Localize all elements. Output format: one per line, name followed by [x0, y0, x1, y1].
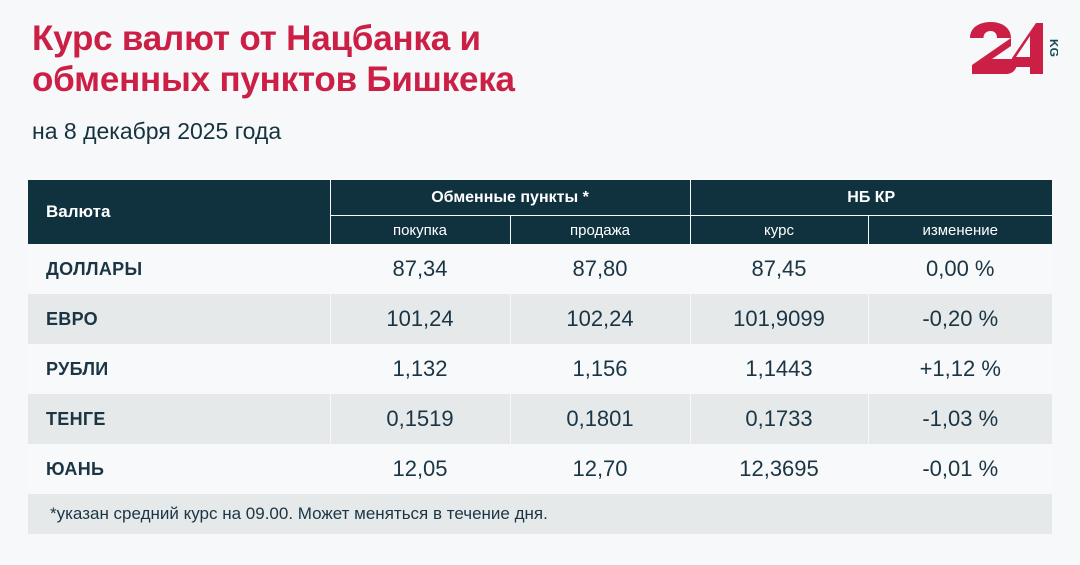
column-header-sell: продажа [510, 216, 690, 245]
cell-currency: ЕВРО [28, 294, 330, 344]
cell-buy: 0,1519 [330, 394, 510, 444]
page-title-line-1: Курс валют от Нацбанка и [32, 18, 732, 59]
column-header-buy: покупка [330, 216, 510, 245]
table-body: ДОЛЛАРЫ 87,34 87,80 87,45 0,00 % ЕВРО 10… [28, 244, 1052, 494]
cell-buy: 12,05 [330, 444, 510, 494]
cell-rate: 1,1443 [690, 344, 868, 394]
column-header-rate: курс [690, 216, 868, 245]
currency-rates-table-wrapper: Валюта Обменные пункты * НБ КР покупка п… [28, 180, 1052, 534]
cell-change: -0,20 % [868, 294, 1052, 344]
table-row: ДОЛЛАРЫ 87,34 87,80 87,45 0,00 % [28, 244, 1052, 294]
cell-sell: 87,80 [510, 244, 690, 294]
column-header-change: изменение [868, 216, 1052, 245]
table-footer: *указан средний курс на 09.00. Может мен… [28, 494, 1052, 534]
logo-mark-icon: KG [966, 22, 1058, 74]
table-footnote: *указан средний курс на 09.00. Может мен… [28, 494, 1052, 534]
table-row: ЕВРО 101,24 102,24 101,9099 -0,20 % [28, 294, 1052, 344]
cell-change: -0,01 % [868, 444, 1052, 494]
cell-rate: 12,3695 [690, 444, 868, 494]
cell-sell: 0,1801 [510, 394, 690, 444]
currency-rates-table: Валюта Обменные пункты * НБ КР покупка п… [28, 180, 1052, 534]
cell-change: +1,12 % [868, 344, 1052, 394]
cell-sell: 12,70 [510, 444, 690, 494]
logo-suffix-text: KG [1047, 39, 1058, 57]
page-header: Курс валют от Нацбанка и обменных пункто… [32, 18, 1048, 144]
page-title-line-2: обменных пунктов Бишкека [32, 59, 732, 100]
cell-currency: РУБЛИ [28, 344, 330, 394]
24kg-logo: KG [966, 22, 1058, 74]
cell-change: -1,03 % [868, 394, 1052, 444]
table-row: ТЕНГЕ 0,1519 0,1801 0,1733 -1,03 % [28, 394, 1052, 444]
cell-sell: 1,156 [510, 344, 690, 394]
cell-buy: 1,132 [330, 344, 510, 394]
cell-change: 0,00 % [868, 244, 1052, 294]
table-header: Валюта Обменные пункты * НБ КР покупка п… [28, 180, 1052, 244]
cell-rate: 87,45 [690, 244, 868, 294]
page-subtitle-date: на 8 декабря 2025 года [32, 119, 1048, 144]
cell-rate: 101,9099 [690, 294, 868, 344]
column-group-header-exchange-points: Обменные пункты * [330, 180, 690, 216]
column-header-currency: Валюта [28, 180, 330, 244]
page-title: Курс валют от Нацбанка и обменных пункто… [32, 18, 732, 101]
cell-currency: ДОЛЛАРЫ [28, 244, 330, 294]
cell-sell: 102,24 [510, 294, 690, 344]
cell-currency: ТЕНГЕ [28, 394, 330, 444]
cell-buy: 101,24 [330, 294, 510, 344]
cell-rate: 0,1733 [690, 394, 868, 444]
table-row: ЮАНЬ 12,05 12,70 12,3695 -0,01 % [28, 444, 1052, 494]
table-footnote-row: *указан средний курс на 09.00. Может мен… [28, 494, 1052, 534]
table-header-row-groups: Валюта Обменные пункты * НБ КР [28, 180, 1052, 216]
cell-currency: ЮАНЬ [28, 444, 330, 494]
column-group-header-nbkr: НБ КР [690, 180, 1052, 216]
cell-buy: 87,34 [330, 244, 510, 294]
table-row: РУБЛИ 1,132 1,156 1,1443 +1,12 % [28, 344, 1052, 394]
